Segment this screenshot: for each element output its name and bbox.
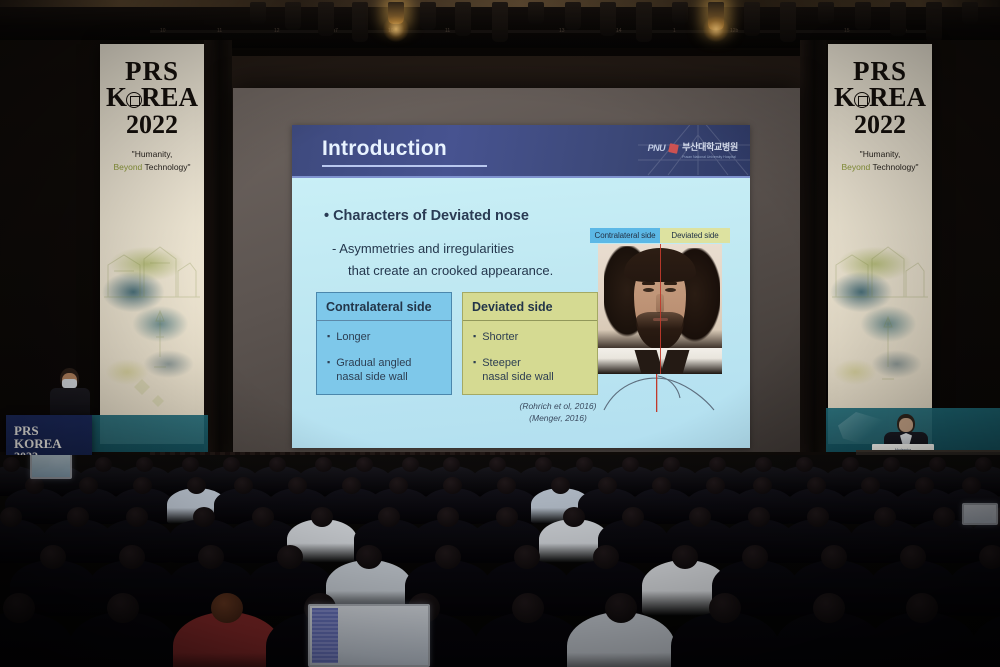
audience-member-head [535,457,552,472]
audience-member-head [67,507,89,527]
banner-left: PRS KREA 2022 "Humanity, Beyond Technolo… [100,44,204,444]
list-item: ▪Steepernasal side wall [473,356,591,384]
slide-subline-2: that create an crooked appearance. [348,263,553,278]
truss-number: 12b [730,28,738,34]
banner-year-text: 2022 [100,112,204,137]
audience-member-head [277,545,303,569]
slide-subline-1: - Asymmetries and irregularities [332,241,514,256]
laptop-left-row [30,455,72,479]
list-bullet-icon: ▪ [327,330,330,344]
truss-number: 11 [217,28,222,34]
stage-lamp-icon [250,2,266,24]
banner-title-right: PRS KREA 2022 [828,58,932,137]
list-item: ▪Longer [327,330,445,344]
audience-member-head [563,507,585,527]
projection-screen: Introduction PNU 부산대학교병원 Pusan National … [233,88,800,456]
stage-lamp-icon [420,2,436,30]
audience-member-head [496,507,518,527]
audience-member-head [119,545,145,569]
hospital-logo: PNU 부산대학교병원 Pusan National University Ho… [648,139,738,157]
table-body-deviated: ▪Shorter ▪Steepernasal side wall [463,321,597,394]
audience-member-head [0,507,22,527]
stage-lamp-icon [285,2,301,30]
banner-korea-text: KREA [828,84,932,110]
laptop-screen [32,455,70,477]
audience-member-head [706,477,725,494]
audience-member-head [748,507,770,527]
audience-member-head [821,545,847,569]
audience-member-head [807,477,826,494]
moderator-face [899,418,913,432]
stage-lamp-icon [565,2,581,30]
face-mask-icon [62,379,77,388]
audience-member-head [962,477,981,494]
auditorium-scene: 101112m71011121314112b141520 P [0,0,1000,667]
stage-lamp-icon [528,2,544,24]
audience-member-head [742,545,768,569]
table-column-deviated: Deviated side ▪Shorter ▪Steepernasal sid… [462,292,598,395]
stage-lamp-icon [672,2,688,24]
stage-lamp-icon [744,2,760,36]
audience-member-head [182,457,199,472]
audience-member-head [25,477,44,494]
list-item-text: Longer [336,330,370,344]
banner-right: PRS KREA 2022 "Humanity, Beyond Technolo… [828,44,932,444]
laptop-screen [310,606,428,665]
audience-member-head [443,477,462,494]
presenter-at-podium [48,368,92,420]
audience-member-head [975,457,992,472]
hospital-name-english: Pusan National University Hospital [682,155,738,159]
banner-prs-text: PRS [828,58,932,84]
banner-cityscape-sketch [832,236,928,428]
truss-rail [150,30,940,33]
audience-member-head [652,477,671,494]
laptop-foreground [308,604,430,667]
stage-lamp-icon [780,2,796,42]
audience-member-head [622,507,644,527]
audience-member-head [3,593,35,623]
banner-tagline-left: "Humanity, Beyond Technology" [100,148,204,174]
stage-lamp-icon [352,2,368,42]
eyebrow-left [642,282,655,285]
audience-member-head [356,457,373,472]
list-bullet-icon: ▪ [473,330,476,344]
audience-member-head [211,593,243,623]
truss-number: 13 [559,28,565,34]
list-bullet-icon: ▪ [327,356,330,384]
audience-member-head [133,477,152,494]
banner-year-text: 2022 [828,112,932,137]
truss-number: 1 [673,28,676,34]
banner-cityscape-sketch [104,236,200,428]
audience-member-head [900,545,926,569]
banner-tagline-right: "Humanity, Beyond Technology" [828,148,932,174]
audience-member-head [198,545,224,569]
facial-midline-marker [660,244,661,374]
lamp-glow [383,16,409,42]
pnu-emblem-icon [668,143,679,154]
korea-seal-icon [854,92,870,108]
eye-left [643,288,654,292]
hospital-name-block: 부산대학교병원 Pusan National University Hospit… [682,137,738,159]
pillar-left [204,40,232,480]
audience-member-head [288,477,307,494]
audience-member-head [402,457,419,472]
hospital-name-korean: 부산대학교병원 [682,142,738,152]
truss-number: 11 [445,28,450,34]
audience-member-head [311,507,333,527]
banner-korea-text: KREA [100,84,204,110]
audience-member-head [40,545,66,569]
stage-lamp-icon [962,2,978,24]
stage-lamp-icon [926,2,942,42]
audience-member-head [929,457,946,472]
photo-label-contralateral: Contralateral side [590,228,660,243]
audience-member-head [906,593,938,623]
audience-member-head [443,457,460,472]
audience-member-head [193,507,215,527]
bullet-heading-text: Characters of Deviated nose [333,208,529,224]
stage-lamp-icon [455,2,471,36]
audience-member-head [813,593,845,623]
nose-profile-diagram [598,374,722,412]
list-item-text: Shorter [482,330,518,344]
audience-seating [0,455,1000,667]
table-body-contralateral: ▪Longer ▪Gradual anglednasal side wall [317,321,451,394]
audience-member-head [497,477,516,494]
patient-face-photo [598,244,722,374]
list-item-text: Gradual anglednasal side wall [336,356,411,384]
audience-member-head [389,477,408,494]
stage-lamp-icon [636,2,652,42]
audience-member-head [933,507,955,527]
banner-title-left: PRS KREA 2022 [100,58,204,137]
audience-member-head [709,457,726,472]
list-item: ▪Shorter [473,330,591,344]
photo-label-deviated: Deviated side [660,228,730,243]
stage-lamp-icon [855,2,871,30]
audience-member-head [126,507,148,527]
audience-member-head [689,507,711,527]
table-header-deviated: Deviated side [463,293,597,321]
eye-right [665,288,676,292]
audience-member-head [342,477,361,494]
list-item-text: Steepernasal side wall [482,356,554,384]
table-column-contralateral: Contralateral side ▪Longer ▪Gradual angl… [316,292,452,395]
audience-member-head [252,507,274,527]
audience-member-head [576,457,593,472]
audience-member-head [223,457,240,472]
audience-member-head [874,507,896,527]
slide-bullet-heading: •Characters of Deviated nose [324,208,529,224]
audience-member-head [514,545,540,569]
audience-member-head [187,477,206,494]
audience-member-head [807,507,829,527]
audience-member-head [915,477,934,494]
audience-member-head [842,457,859,472]
stage-lamp-icon [818,2,834,24]
stage-lamp-icon [890,2,906,36]
citation-2: (Menger, 2016) [488,412,628,424]
audience-member-head [234,477,253,494]
audience-member-head [753,477,772,494]
audience-member-head [755,457,772,472]
photo-side-labels: Contralateral side Deviated side [590,228,730,243]
stage-lamp-icon [318,2,334,36]
audience-member-head [3,457,20,472]
truss-number: 10 [160,28,166,34]
laptop-screen [964,505,996,523]
audience-member-head [622,457,639,472]
audience-member-head [883,457,900,472]
slide-title-underline [322,165,487,167]
audience-member-head [269,457,286,472]
lamp-glow [703,16,729,42]
list-item: ▪Gradual anglednasal side wall [327,356,445,384]
slide-title: Introduction [322,137,447,161]
korea-seal-icon [126,92,142,108]
audience-member-head [437,507,459,527]
audience-member-head [672,545,698,569]
bullet-dot-icon: • [324,208,329,224]
audience-member-head [489,457,506,472]
audience-member-head [136,457,153,472]
pnu-mark-text: PNU [648,143,666,153]
audience-member-head [435,545,461,569]
audience-member-head [979,545,1000,569]
slide-body: •Characters of Deviated nose - Asymmetri… [292,178,750,448]
stage-lamp-icon [600,2,616,36]
audience-member-head [861,477,880,494]
comparison-table: Contralateral side ▪Longer ▪Gradual angl… [316,292,598,395]
truss-number: 12 [274,28,280,34]
audience-member-head [796,457,813,472]
audience-member-head [356,545,382,569]
audience-member-head [593,545,619,569]
audience-member-head [512,593,544,623]
laptop-right-row [962,503,998,525]
table-header-contralateral: Contralateral side [317,293,451,321]
presentation-slide: Introduction PNU 부산대학교병원 Pusan National … [292,125,750,448]
audience-member-head [107,593,139,623]
pillar-right [800,40,826,480]
audience-member-head [605,593,637,623]
truss-number: 14 [616,28,622,34]
audience-member-head [79,477,98,494]
slide-photo-panel: Contralateral side Deviated side [590,228,730,413]
audience-member-head [663,457,680,472]
eyebrow-right [664,282,677,285]
stage-lamp-icon [492,2,508,42]
audience-member-head [315,457,332,472]
audience-member-head [551,477,570,494]
slide-header: Introduction PNU 부산대학교병원 Pusan National … [292,125,750,178]
audience-member-head [95,457,112,472]
audience-member-head [598,477,617,494]
laptop-ui-panel [312,608,338,663]
audience-member-head [378,507,400,527]
list-bullet-icon: ▪ [473,356,476,384]
banner-prs-text: PRS [100,58,204,84]
audience-member-head [709,593,741,623]
truss-number: 15 [844,28,850,34]
